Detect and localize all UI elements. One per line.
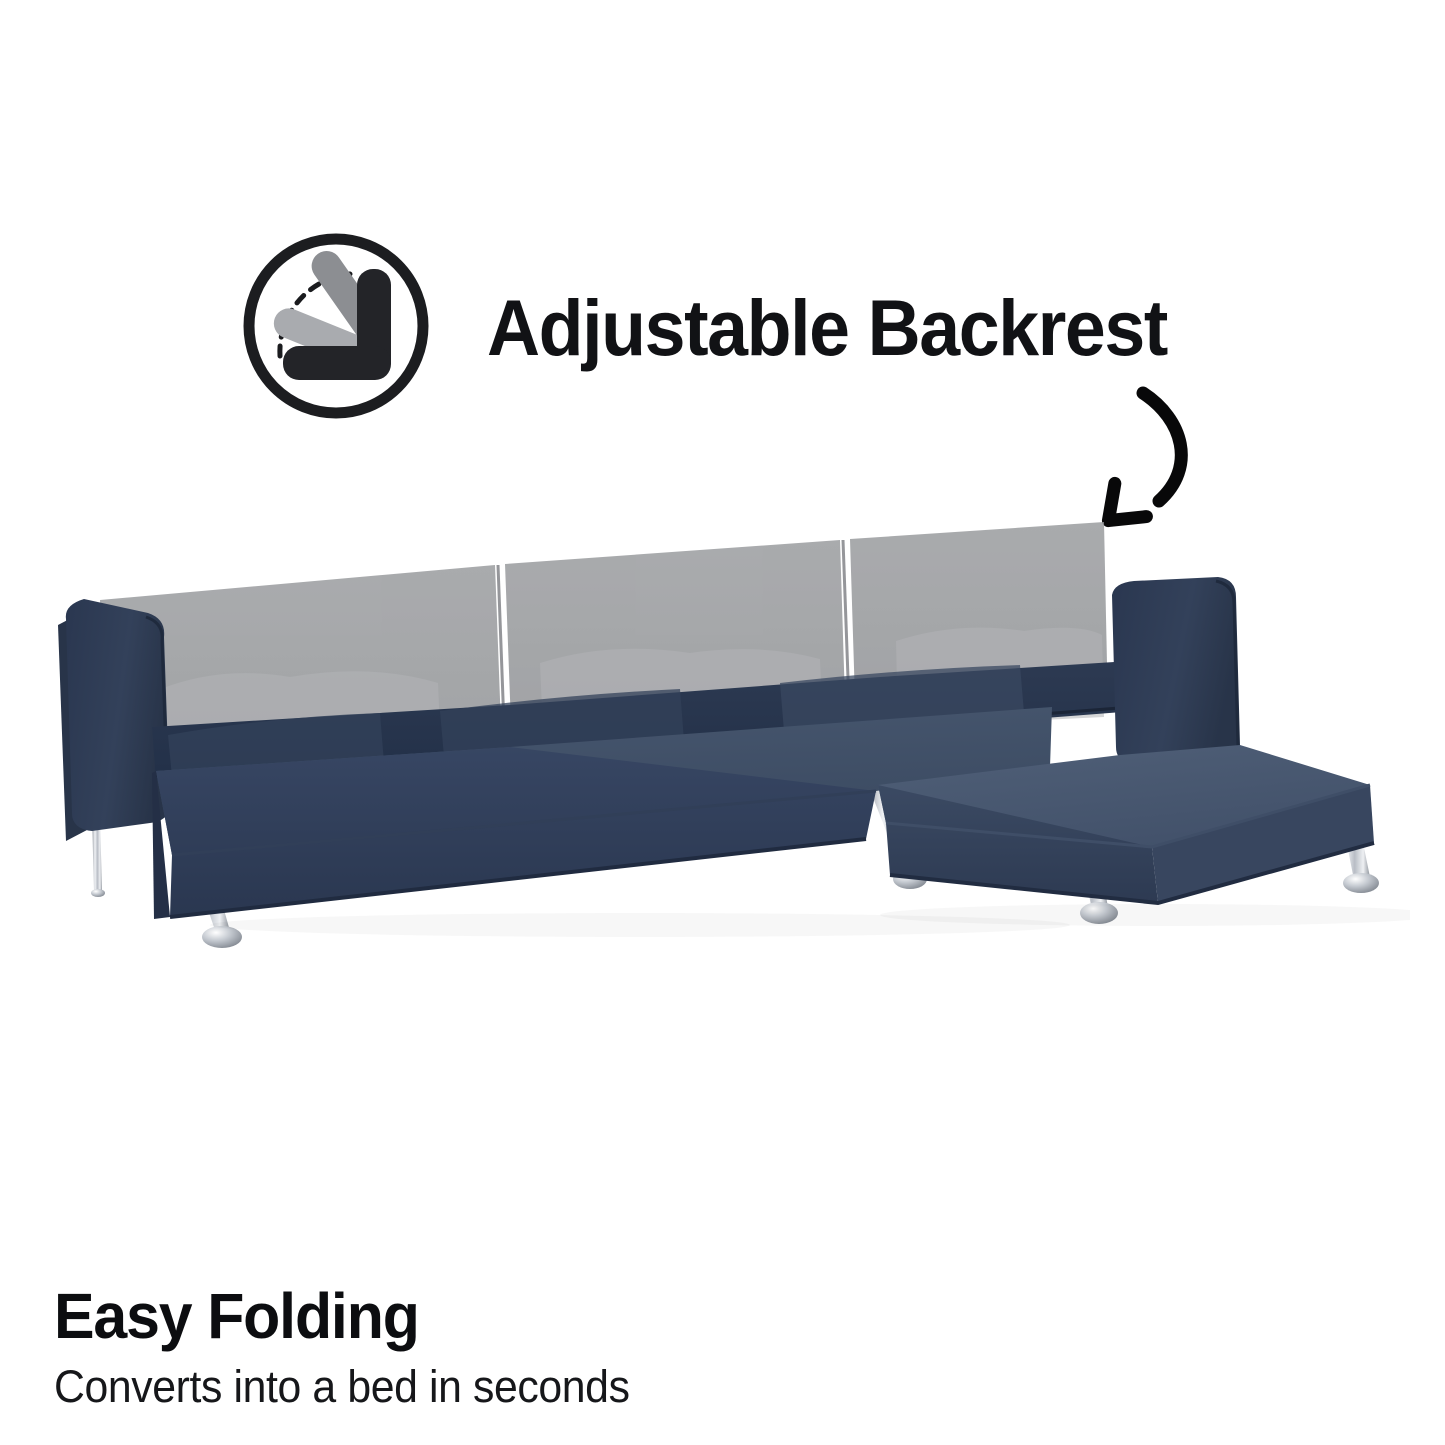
sofa-illustration-svg xyxy=(40,455,1410,965)
seat-horizontal-bar xyxy=(283,346,391,380)
product-feature-graphic: Adjustable Backrest xyxy=(0,0,1445,1445)
feature-title: Adjustable Backrest xyxy=(487,288,1231,367)
caption-block: Easy Folding Converts into a bed in seco… xyxy=(54,1283,954,1411)
sofa-illustration xyxy=(40,455,1410,965)
caption-heading: Easy Folding xyxy=(54,1283,909,1350)
chaise-backrest xyxy=(1112,577,1240,765)
adjustable-backrest-icon xyxy=(238,228,434,424)
caption-subtitle: Converts into a bed in seconds xyxy=(54,1362,909,1412)
adjustable-backrest-icon-svg xyxy=(238,228,434,424)
